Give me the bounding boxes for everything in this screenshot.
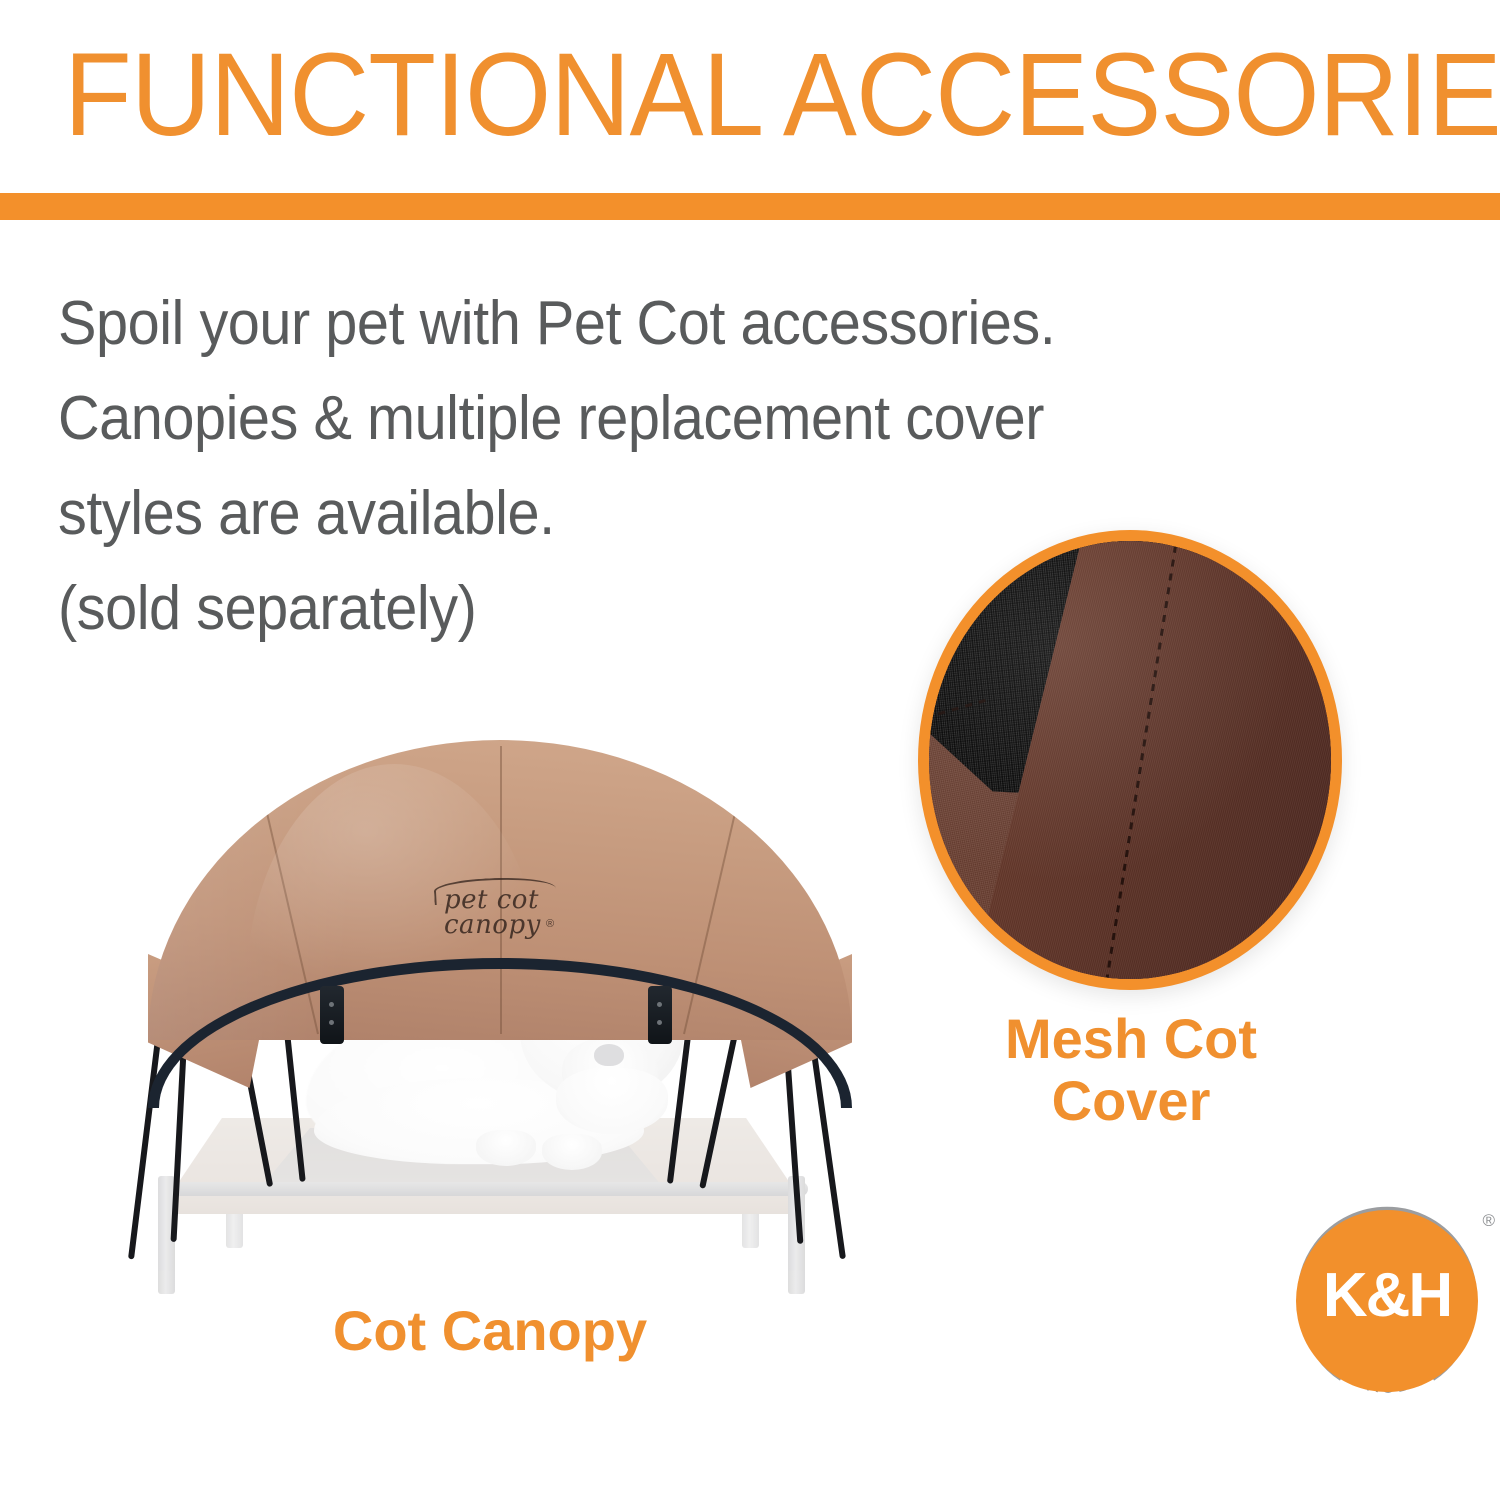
mesh-cot-cover-label: Mesh Cot Cover [888, 1008, 1374, 1132]
canopy-brand-logo: pet cot canopy [444, 888, 644, 938]
bracket-screw-lower [657, 1020, 662, 1025]
intro-line-1: Spoil your pet with Pet Cot accessories. [58, 276, 1258, 371]
canopy-mount-bracket-left [320, 986, 344, 1044]
mesh-cot-cover-callout: Mesh Cot Cover [918, 530, 1342, 990]
bracket-screw-upper [329, 1002, 334, 1007]
header-divider-bar [0, 193, 1500, 220]
kh-logo-wordmark: K&H [1296, 1265, 1478, 1327]
kh-pet-products-logo: PET PRODUCTS K&H ® [1283, 1197, 1491, 1405]
dog-paw-left [476, 1130, 536, 1166]
mesh-cot-cover-label-line-2: Cover [888, 1070, 1374, 1132]
intro-line-2: Canopies & multiple replacement cover [58, 371, 1258, 466]
cot-canopy-label: Cot Canopy [170, 1300, 810, 1362]
kh-logo-registered-mark: ® [1482, 1211, 1495, 1231]
cot-canopy-product-photo: pet cot canopy ® [120, 740, 880, 1300]
bracket-screw-upper [657, 1002, 662, 1007]
canopy-mount-bracket-right [648, 986, 672, 1044]
page-title: FUNCTIONAL ACCESSORIES [64, 36, 1399, 154]
pet-cot-canopy-dome: pet cot canopy ® [148, 740, 852, 1040]
cot-front-frame-bar [160, 1182, 808, 1196]
mesh-cot-cover-label-line-1: Mesh Cot [888, 1008, 1374, 1070]
bracket-screw-lower [329, 1020, 334, 1025]
canopy-logo-registered-mark: ® [546, 918, 554, 930]
dog-paw-right [542, 1134, 602, 1170]
canopy-logo-line-2: canopy [444, 913, 644, 938]
mesh-cot-cover-photo-circle [918, 530, 1342, 990]
